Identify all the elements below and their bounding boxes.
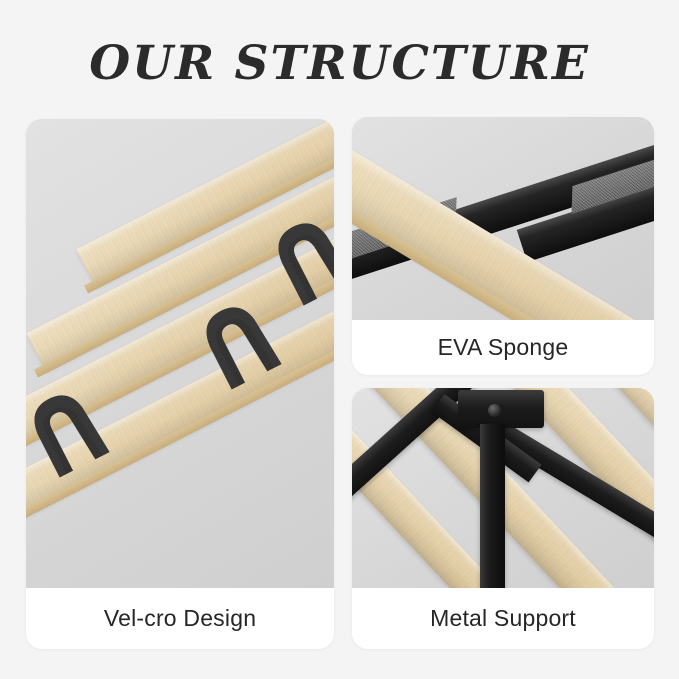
card-label-metal-support: Metal Support <box>430 605 576 632</box>
label-band-metal: Metal Support <box>352 588 654 649</box>
card-eva-sponge[interactable]: EVA Sponge <box>352 117 654 375</box>
metal-bracket-plate <box>458 390 544 428</box>
card-label-eva-sponge: EVA Sponge <box>438 334 569 361</box>
card-metal-support[interactable]: Metal Support <box>352 388 654 649</box>
photo-velcro-design <box>26 119 334 588</box>
card-label-velcro-design: Vel-cro Design <box>104 605 256 632</box>
page-title: OUR STRUCTURE <box>0 36 679 91</box>
label-band-eva: EVA Sponge <box>352 320 654 375</box>
photo-eva-sponge <box>352 117 654 320</box>
bolt-icon <box>488 404 501 417</box>
photo-metal-support <box>352 388 654 588</box>
metal-support-leg <box>480 424 505 588</box>
card-velcro-design[interactable]: Vel-cro Design <box>26 119 334 649</box>
label-band-velcro: Vel-cro Design <box>26 588 334 649</box>
